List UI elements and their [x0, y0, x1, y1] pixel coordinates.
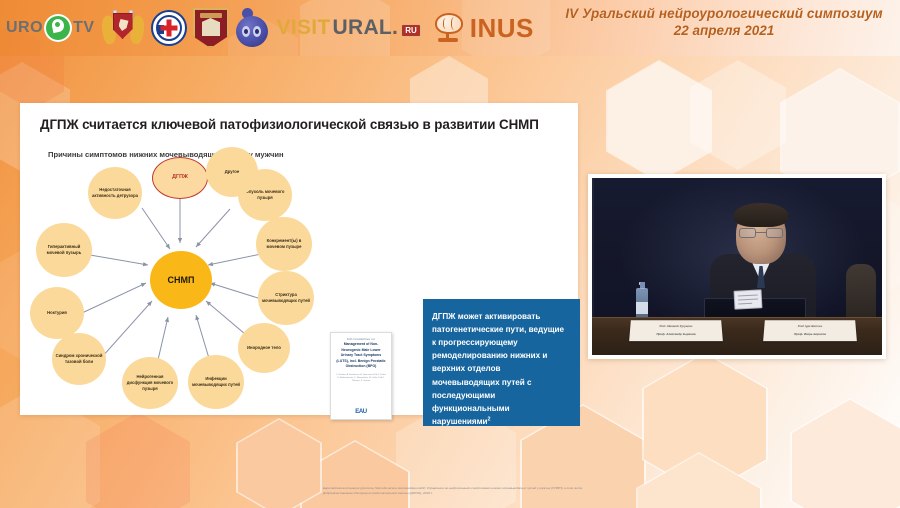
diagram-node-label: Конкремент(ы) в мочевом пузыре: [259, 238, 309, 249]
diagram-node-chronic-pelvic-pain: Синдром хронической тазовой боли: [52, 333, 106, 385]
hex-shape-accent: [86, 412, 190, 508]
hex-outline: [636, 452, 762, 508]
diagram-node-bladder-stones: Конкремент(ы) в мочевом пузыре: [256, 217, 312, 271]
diagram-node-label: Гиперактивный мочевой пузырь: [39, 244, 89, 255]
visitural-logo: VISIT URAL. RU: [277, 16, 421, 40]
diagram-center-node: СНМП: [150, 251, 212, 309]
callout-text: ДГПЖ может активировать патогенетические…: [432, 312, 564, 426]
diagram-node-label: Стриктура мочевыводящих путей: [261, 292, 311, 303]
speaker-hair: [734, 203, 788, 227]
diagram-node-foreign-body: Инородное тело: [238, 323, 290, 373]
placard-right-line1: Prof. Igor Borisov: [764, 324, 856, 328]
urotv-word-uro: URO: [6, 19, 43, 37]
book-top-line: EAU Guidelines on: [335, 337, 387, 341]
visitural-part-visit: VISIT: [277, 16, 331, 40]
event-date: 22 апреля 2021: [556, 23, 892, 38]
diagram-node-detrusor-underactivity: Недостаточная активность детрузора: [88, 167, 142, 219]
name-badge: [734, 289, 763, 309]
diagram-node-label: Недостаточная активность детрузора: [91, 187, 139, 198]
name-placard-left: Prof. Alexandr Zyryanov Проф. Александр …: [629, 320, 723, 341]
diagram-node-other: Другое: [206, 147, 258, 197]
diagram-node-label: Инородное тело: [247, 345, 281, 351]
placard-left-line2: Проф. Александр Зырянов: [629, 332, 722, 336]
diagram-node-label: Ноктурия: [47, 310, 67, 316]
diagram-node-neurogenic-dysfunction: Нейрогенная дисфункция мочевого пузыря: [122, 357, 178, 409]
event-title-line1: IV Уральский нейроурологический симпозиу…: [556, 6, 892, 21]
university-crest-icon: [193, 8, 229, 48]
diagram-node-urinary-infection: Инфекции мочевыводящих путей: [188, 355, 244, 409]
diagram-node-urethral-stricture: Стриктура мочевыводящих путей: [258, 271, 314, 325]
crest-title-band: [200, 13, 222, 18]
urotv-word-tv: TV: [73, 19, 94, 37]
hex-outline: [790, 398, 900, 508]
book-main-title: Management of Non-Neurogenic Male Lower …: [335, 342, 387, 369]
diagram-node-label: Синдром хронической тазовой боли: [55, 353, 103, 364]
eau-logo: EAU: [331, 409, 391, 415]
medical-center-logo-icon: [151, 10, 187, 46]
event-header-bar: URO TV: [0, 0, 900, 56]
urotv-green-circle-icon: [44, 14, 72, 42]
diagram-node-label: Другое: [225, 169, 239, 175]
hex-outline: [300, 440, 410, 508]
emblem-eye-right: [253, 26, 261, 37]
inus-logo: INUS: [433, 12, 534, 44]
inus-wordmark: INUS: [470, 13, 534, 44]
urotv-logo: URO TV: [6, 14, 95, 42]
visitural-tld-badge: RU: [401, 24, 421, 37]
key-message-callout: ДГПЖ может активировать патогенетические…: [423, 299, 580, 426]
slide-title: ДГПЖ считается ключевой патофизиологичес…: [40, 117, 564, 133]
eau-guidelines-book-cover: EAU Guidelines on Management of Non-Neur…: [330, 332, 392, 420]
visitural-part-ural: URAL.: [333, 16, 399, 40]
lut-symptom-causes-diagram: СНМП ДГПЖ Недостаточная активность детру…: [30, 161, 350, 401]
speaker-video-panel[interactable]: Prof. Alexandr Zyryanov Проф. Александр …: [588, 174, 886, 359]
hex-outline: [606, 60, 712, 182]
bottle-label: [636, 302, 648, 314]
diagram-node-label: Инфекции мочевыводящих путей: [191, 376, 241, 387]
emblem-body: [236, 16, 268, 47]
blue-emblem-icon: [235, 8, 269, 48]
diagram-node-overactive-bladder: Гиперактивный мочевой пузырь: [36, 223, 92, 277]
slide-citation: Европейская ассоциация урологов, Методич…: [323, 486, 585, 496]
diagram-center-label: СНМП: [168, 274, 195, 286]
diagram-node-bph-label: ДГПЖ: [172, 174, 188, 181]
placard-right-line2: Проф. Игорь Борисов: [763, 332, 856, 336]
diagram-node-bph: ДГПЖ: [152, 157, 208, 199]
red-cross-icon: [160, 20, 177, 37]
sverdlovsk-coat-of-arms-icon: [101, 8, 145, 48]
hex-shape: [690, 60, 786, 170]
book-authors: C. Gratzke, A. Bachmann, A. Descazeaud, …: [335, 374, 387, 383]
hex-outline: [642, 352, 768, 496]
hex-outline: [236, 418, 322, 508]
event-title: IV Уральский нейроурологический симпозиу…: [556, 6, 892, 38]
brain-icon: [433, 12, 465, 44]
diagram-node-label: Нейрогенная дисфункция мочевого пузыря: [125, 374, 175, 391]
name-placard-right: Prof. Igor Borisov Проф. Игорь Борисов: [763, 320, 857, 341]
crest-building-icon: [202, 22, 220, 36]
broadcast-stage: URO TV: [0, 0, 900, 508]
diagram-node-nocturia: Ноктурия: [30, 287, 84, 339]
callout-reference: 2: [488, 416, 491, 422]
placard-left-line1: Prof. Alexandr Zyryanov: [630, 324, 722, 328]
sponsor-logo-row: URO TV: [6, 2, 534, 54]
eyeglasses-icon: [739, 228, 783, 238]
emblem-eye-left: [242, 26, 250, 37]
presentation-slide: ДГПЖ считается ключевой патофизиологичес…: [20, 103, 578, 415]
